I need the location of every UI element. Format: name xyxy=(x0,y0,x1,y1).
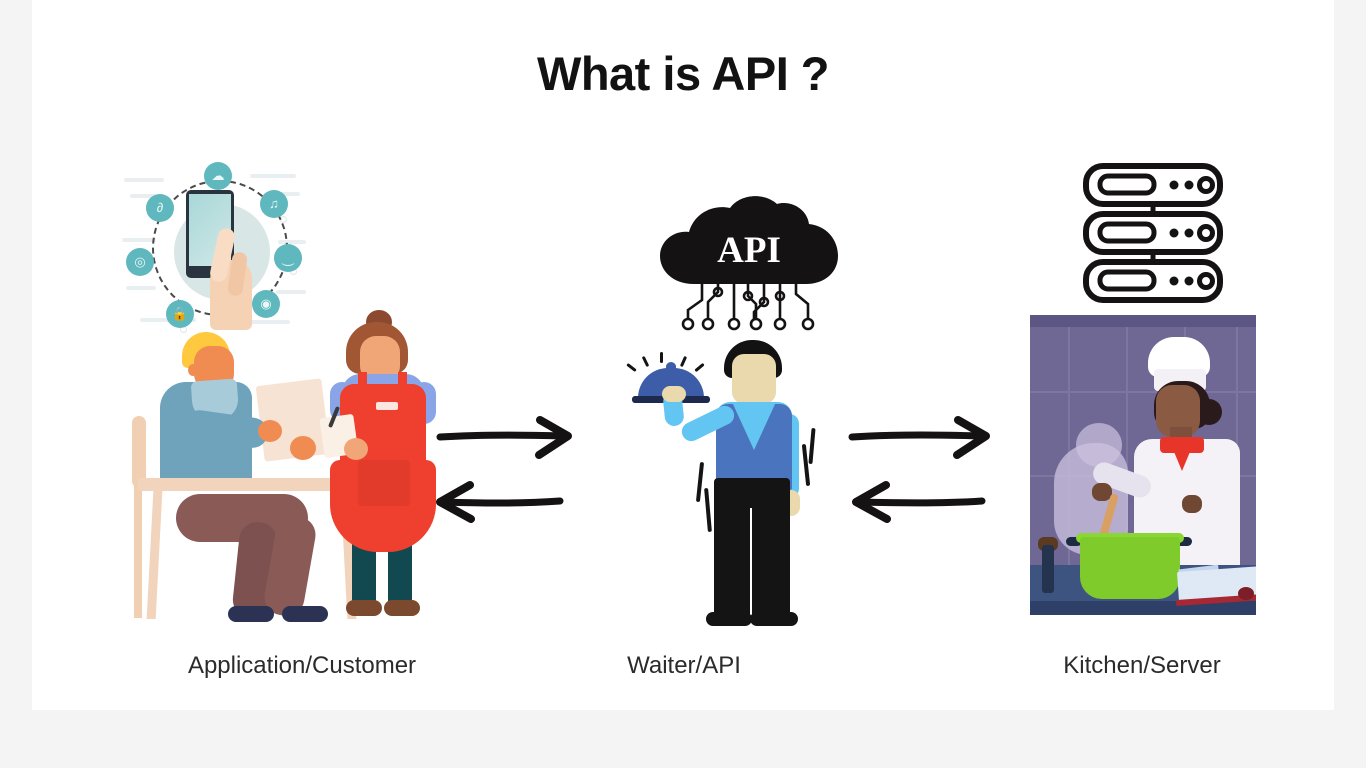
request-response-arrows-right xyxy=(842,415,1022,535)
kitchen-scene xyxy=(1030,315,1256,615)
location-pin-icon: ◎ xyxy=(126,248,154,276)
api-cloud-icon: API xyxy=(644,196,864,336)
waiter-figure xyxy=(628,340,818,626)
page-title: What is API ? xyxy=(32,46,1334,101)
cloud-sync-icon: ☁ xyxy=(204,162,232,190)
api-cloud-label: API xyxy=(717,230,781,271)
server-rack-icon xyxy=(1072,160,1252,308)
customer-scene xyxy=(132,310,452,620)
waitress-figure xyxy=(322,310,442,622)
slide-canvas: What is API ? ☁ ♫ ⏝ ◉ 🔒 xyxy=(32,0,1334,710)
label-application-customer: Application/Customer xyxy=(62,652,542,680)
wifi-icon: ⏝ xyxy=(274,244,302,272)
music-note-icon: ♫ xyxy=(260,190,288,218)
label-kitchen-server: Kitchen/Server xyxy=(992,652,1292,680)
share-nodes-icon: ∂ xyxy=(146,194,174,222)
mobile-app-touch-icon: ☁ ♫ ⏝ ◉ 🔒 ◎ ∂ xyxy=(130,168,306,333)
request-response-arrows-left xyxy=(432,415,612,535)
label-waiter-api: Waiter/API xyxy=(562,652,806,680)
